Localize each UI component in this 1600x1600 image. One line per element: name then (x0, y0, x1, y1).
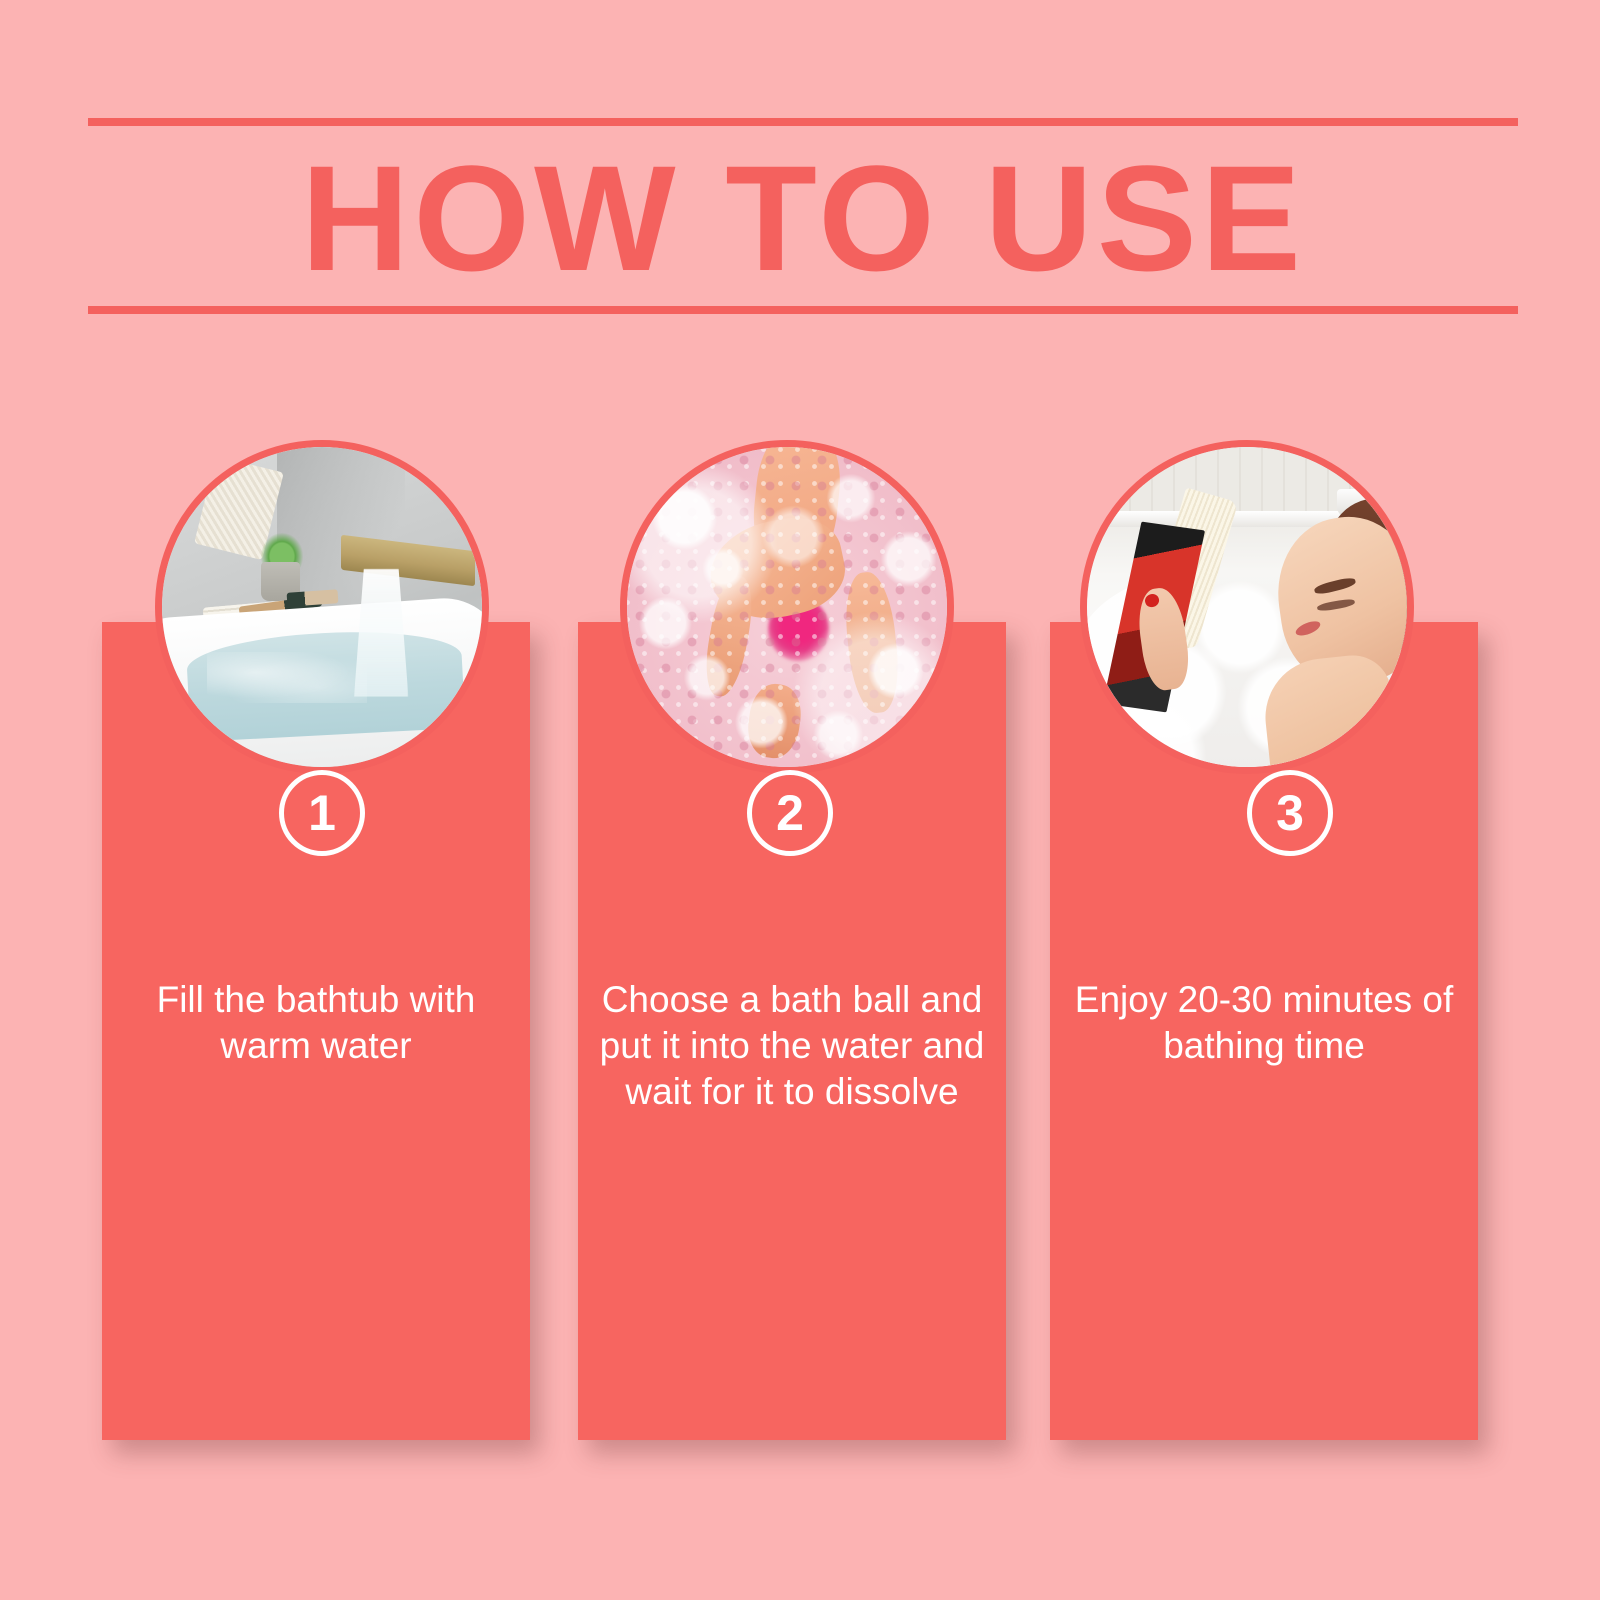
step-1-caption: Fill the bathtub with warm water (116, 977, 516, 1069)
photo-2-inner (627, 447, 947, 767)
woman-reading-in-bubble-bath-photo (1080, 440, 1414, 774)
foam-veil (627, 447, 947, 767)
step-number-badge-1: 1 (279, 770, 365, 856)
step-number-badge-2: 2 (747, 770, 833, 856)
step-3-caption: Enjoy 20-30 minutes of bathing time (1064, 977, 1464, 1069)
step-card-3: Enjoy 20-30 minutes of bathing time (1050, 440, 1478, 1440)
page-title: HOW TO USE (88, 130, 1518, 306)
bathtub-filling-with-water-photo (155, 440, 489, 774)
step-card-1: Fill the bathtub with warm water 1 (102, 440, 530, 1440)
title-rule-top (88, 118, 1518, 126)
header: HOW TO USE (88, 118, 1518, 314)
hand-in-pink-foamy-water-photo (620, 440, 954, 774)
photo-1-inner (162, 447, 482, 767)
step-card-2: Choose a bath ball and put it into the w… (578, 440, 1006, 1440)
title-rule-bottom (88, 306, 1518, 314)
photo-3-inner (1087, 447, 1407, 767)
step-2-caption: Choose a bath ball and put it into the w… (592, 977, 992, 1115)
step-number-badge-3: 3 (1247, 770, 1333, 856)
how-to-use-infographic: HOW TO USE Fill the bathtub with warm wa… (0, 0, 1600, 1600)
water-sparkle (207, 652, 367, 703)
